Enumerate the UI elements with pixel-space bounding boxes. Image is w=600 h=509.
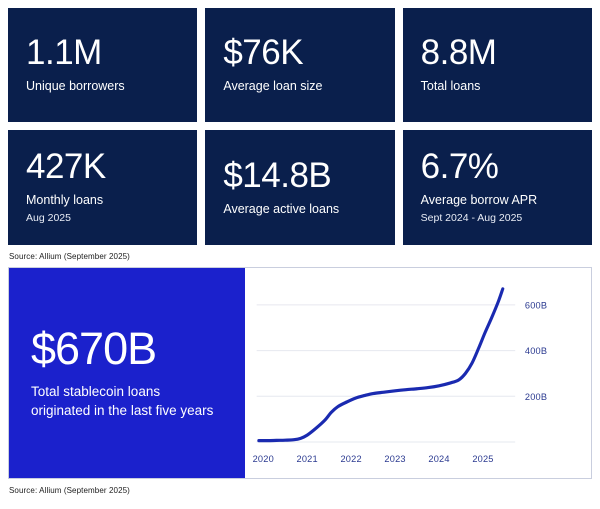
chart-y-tick-label: 200B [525,392,547,402]
chart-x-tick-label: 2020 [253,454,274,464]
kpi-label: Average borrow APR [421,193,574,209]
highlight-panel: $670B Total stablecoin loans originated … [9,268,245,478]
kpi-card-average-active-loans: $14.8B Average active loans [205,130,394,245]
kpi-card-average-borrow-apr: 6.7% Average borrow APR Sept 2024 - Aug … [403,130,592,245]
kpi-card-total-loans: 8.8M Total loans [403,8,592,122]
kpi-sublabel: Sept 2024 - Aug 2025 [421,212,574,226]
kpi-value: 427K [26,149,179,186]
chart-x-tick-label: 2023 [384,454,405,464]
kpi-label: Monthly loans [26,193,179,209]
chart-line-series [259,289,503,441]
kpi-label: Total loans [421,79,574,95]
kpi-card-monthly-loans: 427K Monthly loans Aug 2025 [8,130,197,245]
kpi-value: $14.8B [223,158,376,195]
kpi-value: 1.1M [26,35,179,72]
chart-x-tick-label: 2022 [340,454,361,464]
kpi-value: 8.8M [421,35,574,72]
kpi-label: Average active loans [223,202,376,218]
highlight-value: $670B [31,326,223,371]
kpi-source-note: Source: Allium (September 2025) [0,245,600,267]
chart-panel: 200B400B600B 202020212022202320242025 [245,268,591,478]
kpi-value: 6.7% [421,149,574,186]
highlight-chart-band: $670B Total stablecoin loans originated … [8,267,592,479]
kpi-section: 1.1M Unique borrowers $76K Average loan … [0,0,600,245]
chart-x-tick-label: 2024 [428,454,449,464]
kpi-label: Average loan size [223,79,376,95]
chart-x-axis-labels: 202020212022202320242025 [253,454,494,464]
kpi-card-unique-borrowers: 1.1M Unique borrowers [8,8,197,122]
highlight-label-line2: originated in the last five years [31,403,213,418]
chart-y-tick-label: 400B [525,346,547,356]
chart-y-tick-label: 600B [525,300,547,310]
highlight-label: Total stablecoin loans originated in the… [31,383,223,419]
highlight-label-line1: Total stablecoin loans [31,384,160,399]
chart-source-note: Source: Allium (September 2025) [0,479,600,501]
kpi-grid: 1.1M Unique borrowers $76K Average loan … [8,8,592,245]
chart-y-axis-labels: 200B400B600B [525,300,547,402]
kpi-card-average-loan-size: $76K Average loan size [205,8,394,122]
kpi-label: Unique borrowers [26,79,179,95]
chart-x-tick-label: 2025 [472,454,493,464]
kpi-value: $76K [223,35,376,72]
kpi-sublabel: Aug 2025 [26,212,179,226]
chart-x-tick-label: 2021 [297,454,318,464]
cumulative-loans-line-chart: 200B400B600B 202020212022202320242025 [245,268,591,478]
